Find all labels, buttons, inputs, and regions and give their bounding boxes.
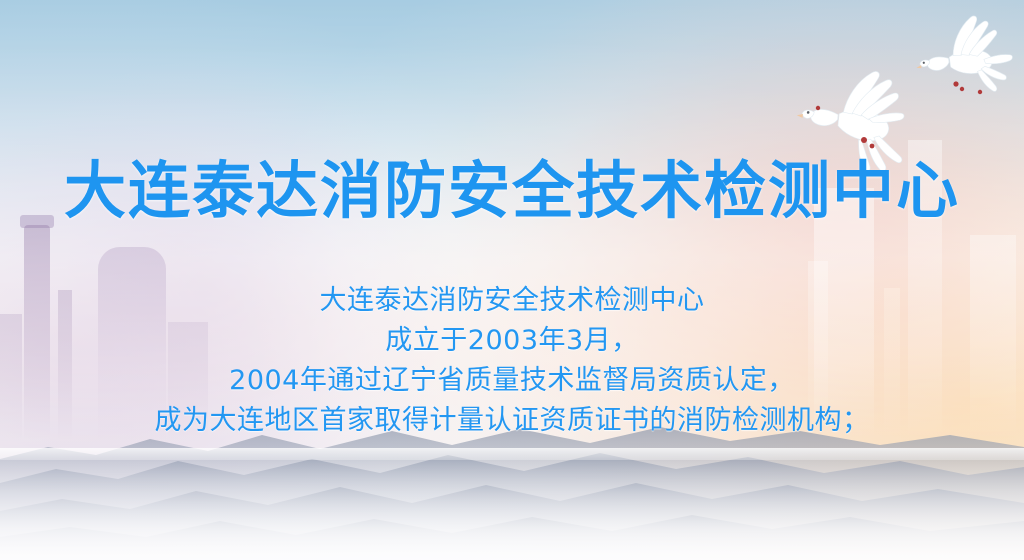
banner-content: 大连泰达消防安全技术检测中心 大连泰达消防安全技术检测中心 成立于2003年3月…: [0, 0, 1024, 560]
intro-line-2: 成立于2003年3月，: [0, 321, 1024, 361]
intro-line-3: 2004年通过辽宁省质量技术监督局资质认定，: [0, 361, 1024, 401]
intro-paragraph: 大连泰达消防安全技术检测中心 成立于2003年3月， 2004年通过辽宁省质量技…: [0, 281, 1024, 441]
page-title: 大连泰达消防安全技术检测中心: [0, 160, 1024, 222]
intro-line-4: 成为大连地区首家取得计量认证资质证书的消防检测机构；: [0, 401, 1024, 441]
intro-line-1: 大连泰达消防安全技术检测中心: [0, 281, 1024, 321]
promo-banner: 大连泰达消防安全技术检测中心 大连泰达消防安全技术检测中心 成立于2003年3月…: [0, 0, 1024, 560]
